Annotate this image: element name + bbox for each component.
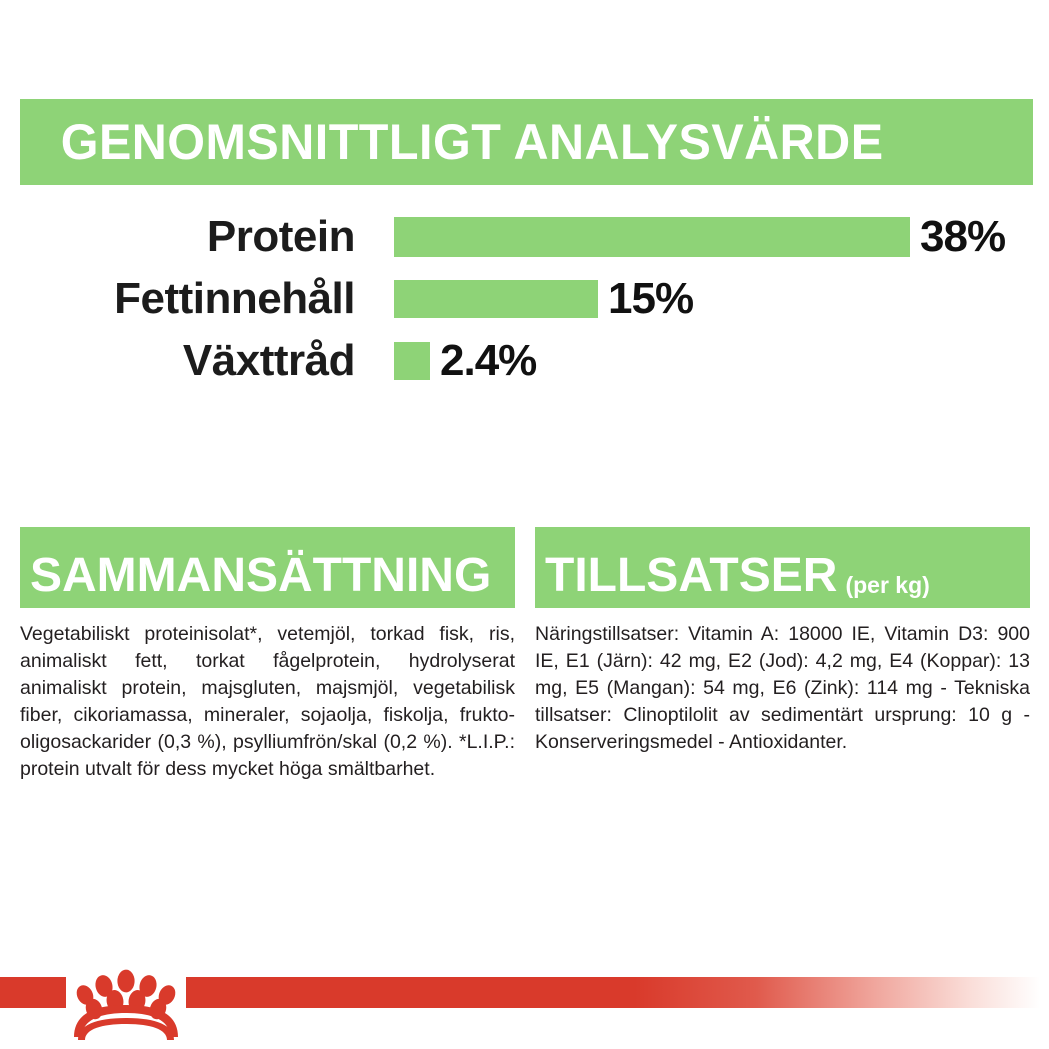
chart-row-fiber: Växttråd 2.4%: [0, 332, 1049, 390]
chart-label-protein: Protein: [0, 215, 355, 259]
chart-row-protein: Protein 38%: [0, 208, 1049, 266]
royal-canin-crown-logo: [66, 947, 186, 1041]
additives-section-banner: TILLSATSER (per kg): [535, 527, 1030, 608]
additives-section-body: Näringstillsatser: Vitamin A: 18000 IE, …: [535, 621, 1030, 756]
composition-section: SAMMANSÄTTNING Vegetabiliskt proteinisol…: [20, 527, 515, 783]
chart-label-fat: Fettinnehåll: [0, 277, 355, 321]
nutrition-bar-chart: Protein 38% Fettinnehåll 15% Växttråd 2.…: [0, 208, 1049, 394]
composition-section-title: SAMMANSÄTTNING: [30, 552, 491, 600]
bar-wrap-fat: 15%: [394, 277, 693, 321]
bar-wrap-protein: 38%: [394, 215, 1005, 259]
composition-section-banner: SAMMANSÄTTNING: [20, 527, 515, 608]
bar-value-fiber: 2.4%: [440, 339, 536, 383]
bar-value-fat: 15%: [608, 277, 693, 321]
nutrition-panel-page: GENOMSNITTLIGT ANALYSVÄRDE Protein 38% F…: [0, 0, 1049, 1049]
bar-fat: [394, 280, 598, 318]
footer-rule-right: [186, 977, 1049, 1008]
additives-section: TILLSATSER (per kg) Näringstillsatser: V…: [535, 527, 1030, 756]
bar-protein: [394, 217, 910, 257]
footer-rule-left: [0, 977, 66, 1008]
chart-row-fat: Fettinnehåll 15%: [0, 270, 1049, 328]
chart-label-fiber: Växttråd: [0, 339, 355, 383]
additives-section-subtitle: (per kg): [845, 574, 929, 597]
footer: [0, 977, 1049, 1011]
additives-section-title: TILLSATSER: [545, 552, 837, 600]
bar-fiber: [394, 342, 430, 380]
bar-value-protein: 38%: [920, 215, 1005, 259]
bar-wrap-fiber: 2.4%: [394, 339, 536, 383]
page-title: GENOMSNITTLIGT ANALYSVÄRDE: [20, 117, 884, 167]
composition-section-body: Vegetabiliskt proteinisolat*, vetemjöl, …: [20, 621, 515, 783]
average-analysis-banner: GENOMSNITTLIGT ANALYSVÄRDE: [20, 99, 1033, 185]
